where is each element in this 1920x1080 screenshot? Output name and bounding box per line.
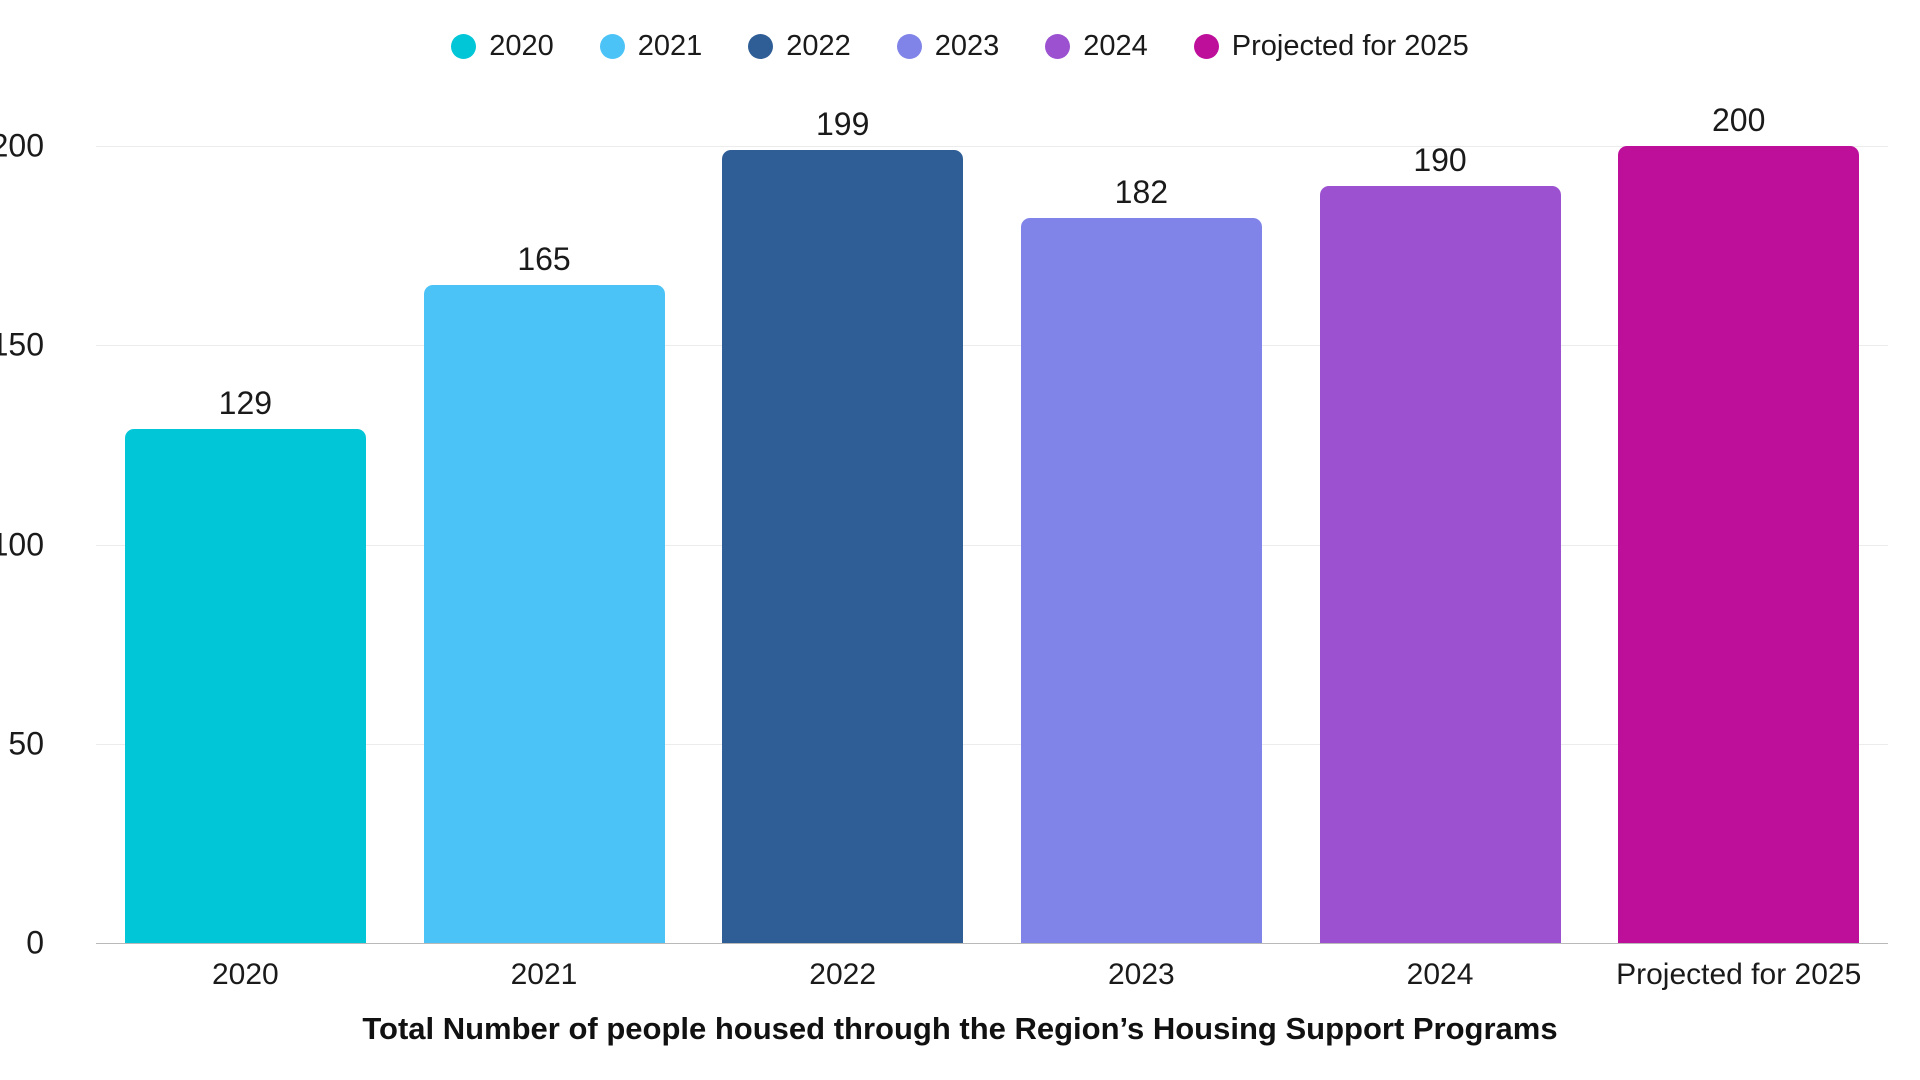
bar-series: 129165199182190200: [96, 146, 1888, 943]
legend-item-label: 2020: [489, 32, 554, 61]
legend-swatch-icon: [748, 34, 773, 59]
bar-value-label: 200: [1589, 104, 1888, 136]
bar[interactable]: [125, 429, 366, 943]
y-axis-tick-label: 150: [0, 327, 44, 364]
legend-swatch-icon: [1045, 34, 1070, 59]
chart-caption: Total Number of people housed through th…: [0, 1011, 1920, 1047]
x-axis-tick-label: 2022: [693, 958, 992, 992]
y-axis-tick-label: 50: [0, 725, 44, 762]
y-axis-tick-label: 0: [0, 925, 44, 962]
legend-item-label: Projected for 2025: [1232, 32, 1469, 61]
x-axis-tick-label: 2023: [992, 958, 1291, 992]
chart-legend: 20202021202220232024Projected for 2025: [0, 32, 1920, 61]
bar-value-label: 165: [395, 243, 694, 275]
bar-value-label: 199: [693, 108, 992, 140]
legend-item[interactable]: 2020: [451, 32, 554, 61]
legend-swatch-icon: [451, 34, 476, 59]
bar-value-label: 182: [992, 176, 1291, 208]
x-axis-tick-label: 2020: [96, 958, 395, 992]
legend-swatch-icon: [897, 34, 922, 59]
legend-item[interactable]: 2023: [897, 32, 1000, 61]
legend-swatch-icon: [600, 34, 625, 59]
x-axis-tick-label: 2024: [1291, 958, 1590, 992]
legend-item-label: 2021: [638, 32, 703, 61]
bar[interactable]: [424, 285, 665, 943]
x-axis-tick-label: Projected for 2025: [1589, 958, 1888, 992]
bar-slot: 165: [395, 146, 694, 943]
bar-slot: 129: [96, 146, 395, 943]
plot-area: 050100150200 129165199182190200: [96, 146, 1888, 943]
bar[interactable]: [1021, 218, 1262, 943]
bar-value-label: 190: [1291, 144, 1590, 176]
axis-baseline: [96, 943, 1888, 944]
legend-item-label: 2022: [786, 32, 851, 61]
legend-item[interactable]: 2021: [600, 32, 703, 61]
bar-slot: 199: [693, 146, 992, 943]
legend-item-label: 2023: [935, 32, 1000, 61]
bar[interactable]: [1320, 186, 1561, 943]
bar-slot: 200: [1589, 146, 1888, 943]
bar-slot: 190: [1291, 146, 1590, 943]
bar-chart: 20202021202220232024Projected for 2025 0…: [0, 0, 1920, 1080]
y-axis-tick-label: 200: [0, 128, 44, 165]
bar[interactable]: [722, 150, 963, 943]
legend-item-label: 2024: [1083, 32, 1148, 61]
legend-item[interactable]: 2024: [1045, 32, 1148, 61]
legend-item[interactable]: 2022: [748, 32, 851, 61]
legend-swatch-icon: [1194, 34, 1219, 59]
y-axis-tick-label: 100: [0, 526, 44, 563]
x-axis-tick-labels: 20202021202220232024Projected for 2025: [96, 958, 1888, 992]
bar-value-label: 129: [96, 387, 395, 419]
bar[interactable]: [1618, 146, 1859, 943]
bar-slot: 182: [992, 146, 1291, 943]
x-axis-tick-label: 2021: [395, 958, 694, 992]
legend-item[interactable]: Projected for 2025: [1194, 32, 1469, 61]
